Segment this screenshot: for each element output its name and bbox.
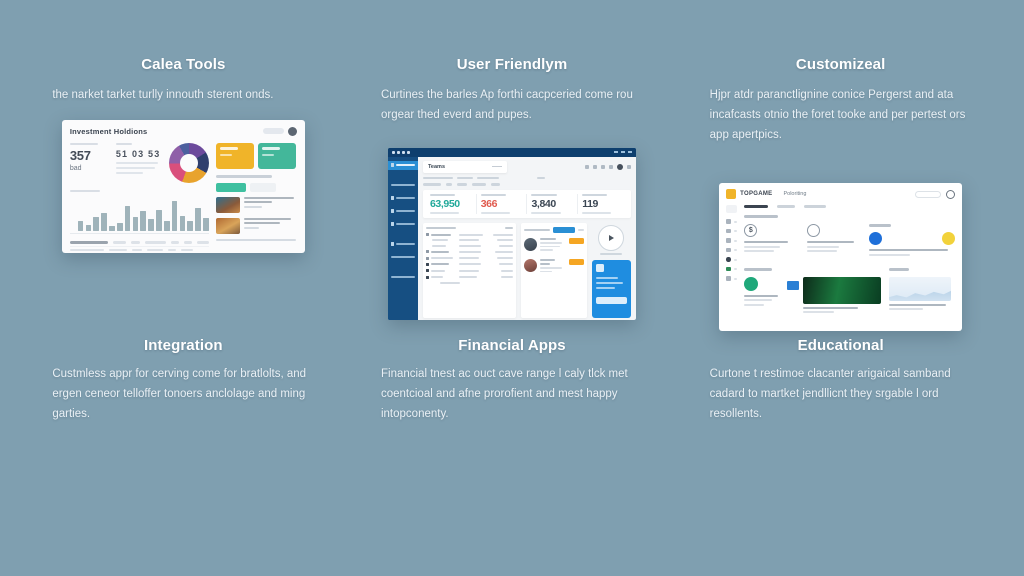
article-column	[744, 268, 881, 316]
stat-footnote	[531, 212, 560, 214]
feature-description: Curtines the barles Ap forthi cacpceried…	[381, 86, 643, 126]
minimize-icon[interactable]	[614, 151, 618, 153]
feed-item-body	[540, 238, 566, 253]
table-cell	[459, 270, 479, 272]
table-row[interactable]	[70, 246, 209, 253]
article-headline	[869, 249, 948, 251]
main-columns	[423, 223, 631, 318]
sidebar-item[interactable]	[726, 229, 737, 234]
currency-icon: $	[744, 224, 757, 237]
market-meta	[889, 308, 923, 310]
tab-title: Teams	[428, 164, 445, 170]
news-section-title	[216, 175, 272, 178]
table-cell	[184, 241, 192, 244]
sidebar-item[interactable]	[388, 240, 418, 249]
article-grid-top: $	[744, 224, 955, 262]
account-pill[interactable]	[915, 191, 941, 198]
promo-text	[596, 282, 623, 284]
app-sidebar	[388, 157, 418, 320]
promo-text	[596, 277, 618, 279]
bar	[78, 221, 84, 232]
table-row[interactable]	[426, 269, 513, 272]
sidebar-item-label	[734, 259, 738, 261]
sidebar-item[interactable]	[726, 248, 737, 253]
avatar	[524, 238, 537, 251]
stat-label	[582, 194, 607, 196]
sidebar-item-label	[734, 249, 738, 251]
brand[interactable]: TOPGAME Poloriting	[726, 189, 806, 199]
app-body: Teams	[388, 157, 636, 320]
refresh-icon[interactable]	[585, 165, 589, 169]
table-row[interactable]	[426, 233, 513, 236]
bar	[195, 208, 201, 231]
sidebar-item-active[interactable]	[388, 161, 418, 170]
sidebar-article-column	[869, 224, 955, 262]
feature-description: Curtone t restimoe clacanter arigaical s…	[710, 365, 972, 424]
bar	[172, 201, 178, 231]
avatar[interactable]	[288, 127, 297, 136]
table-cell	[109, 249, 127, 252]
table-cell	[499, 245, 513, 247]
table-cell-name	[426, 269, 456, 272]
screenshot-wrapper: Investment Holdions 357 bad	[62, 120, 305, 253]
text-line	[116, 167, 156, 169]
news-footer-row	[216, 239, 296, 244]
sidebar-item[interactable]	[726, 276, 737, 281]
bar	[117, 223, 123, 231]
filter-chips	[423, 183, 631, 186]
news-thumbnail	[216, 197, 240, 213]
feed-item[interactable]	[524, 238, 584, 253]
table-cell	[70, 241, 108, 244]
article-row: $	[744, 224, 861, 254]
kpi-label	[70, 143, 98, 146]
screenshot-wrapper: Teams	[388, 148, 636, 320]
article-meta	[807, 250, 837, 252]
news-text	[216, 239, 296, 244]
dashboard-header-actions	[263, 127, 297, 136]
article-meta	[869, 254, 910, 256]
brand-icon-green	[744, 277, 758, 291]
sidebar-spacer	[388, 174, 418, 181]
table-cell	[147, 249, 163, 252]
data-table	[423, 223, 516, 318]
tile-label	[220, 154, 233, 156]
article-row	[869, 232, 955, 258]
article-headline	[744, 295, 778, 297]
filter-chip[interactable]	[446, 183, 452, 186]
news-meta	[244, 206, 262, 208]
user-icon	[391, 242, 395, 246]
table-cell	[495, 251, 513, 253]
tab-eurobe[interactable]	[804, 205, 826, 208]
sidebar-item-label	[396, 210, 415, 212]
kpi-secondary: 51 03 53	[116, 143, 161, 183]
sidebar-item-label	[734, 278, 738, 280]
sidebar-item-label	[396, 243, 415, 245]
analytics-icon	[807, 224, 820, 237]
section-heading	[744, 268, 772, 271]
article-meta	[744, 304, 764, 306]
promo-button[interactable]	[596, 297, 627, 304]
feed-item-meta	[540, 249, 553, 251]
share-icon[interactable]	[609, 165, 613, 169]
news-icon	[726, 229, 731, 234]
bar	[133, 217, 139, 231]
table-cell	[493, 234, 513, 236]
article-text	[807, 246, 840, 248]
table-cell	[459, 263, 481, 265]
search-input[interactable]	[726, 205, 737, 213]
table-cell-name	[426, 276, 456, 279]
table-cell-name	[426, 239, 456, 241]
kpi-sublabel: bad	[70, 165, 108, 172]
sidebar-section-label	[391, 184, 415, 186]
holdings-table	[70, 239, 209, 253]
investment-dashboard-screenshot[interactable]: Investment Holdions 357 bad	[62, 120, 305, 253]
bar	[203, 218, 209, 231]
currency-symbol: $	[749, 227, 753, 234]
table-cell	[459, 245, 481, 247]
filter-chip[interactable]	[423, 183, 441, 186]
table-cell-name	[426, 233, 456, 236]
sidebar-item[interactable]	[726, 219, 737, 224]
table-cell	[431, 276, 443, 278]
right-rail	[592, 223, 631, 318]
stat-footnote	[582, 212, 611, 214]
text-line	[116, 172, 143, 174]
stat-label	[531, 194, 556, 196]
stat-card: 119	[578, 194, 628, 215]
news-meta	[216, 239, 296, 241]
table-cell	[459, 251, 481, 253]
table-cell-name	[426, 245, 456, 247]
article-row	[744, 277, 881, 316]
avatar	[524, 259, 537, 272]
news-text	[244, 197, 296, 213]
news-headline	[244, 218, 291, 220]
bar	[187, 221, 193, 231]
feature-description: Custmless appr for cerving come for brat…	[52, 365, 314, 424]
table-cell	[431, 234, 451, 236]
window-controls[interactable]	[614, 151, 632, 153]
table-cell	[168, 249, 176, 252]
bar	[93, 217, 99, 232]
feature-title: Calea Tools	[141, 56, 225, 73]
app-main-content: Teams	[418, 157, 636, 320]
table-cell	[197, 241, 209, 244]
table-row[interactable]	[426, 263, 513, 266]
bar-chart	[70, 190, 209, 235]
news-list-item[interactable]	[216, 197, 296, 213]
feature-title: Integration	[144, 337, 223, 354]
play-icon	[609, 235, 614, 241]
news-headline	[244, 197, 294, 199]
news-meta	[244, 227, 260, 229]
dashboard-header: Investment Holdions	[70, 127, 297, 136]
chart-axis	[70, 233, 209, 234]
table-cell	[459, 257, 479, 259]
table-total	[440, 282, 460, 284]
sidebar-item-settings[interactable]	[388, 273, 418, 282]
article-card[interactable]	[744, 277, 780, 316]
feed-action-button[interactable]	[553, 227, 575, 233]
news-thumbnail	[216, 218, 240, 234]
feature-description: Financial tnest ac ouct cave range l cal…	[381, 365, 643, 424]
article-card[interactable]	[869, 232, 955, 258]
row-icon	[426, 269, 429, 272]
article-headline	[744, 241, 788, 243]
app-icon-blue	[869, 232, 882, 245]
bar	[148, 219, 154, 231]
table-cell-name	[426, 263, 456, 266]
breadcrumb-item[interactable]	[457, 177, 473, 179]
breadcrumb-action[interactable]	[537, 177, 545, 179]
promo-card[interactable]	[592, 260, 631, 318]
feed-item-text	[540, 246, 560, 248]
promo-text	[596, 287, 615, 289]
table-row[interactable]	[426, 257, 513, 260]
table-cell	[145, 241, 166, 244]
tile-value	[220, 147, 238, 150]
column-header[interactable]	[426, 227, 456, 229]
bookmark-icon	[726, 267, 731, 272]
row-icon	[426, 257, 429, 260]
filter-button[interactable]	[250, 183, 276, 192]
icon-row	[869, 232, 955, 245]
dashboard-title: Investment Holdions	[70, 127, 148, 136]
sidebar-item-label	[396, 223, 415, 225]
tile-value	[262, 147, 280, 150]
summary-tiles	[216, 143, 296, 169]
kpi-secondary-value: 51 03 53	[116, 149, 161, 159]
feed-title	[524, 229, 550, 231]
table-row[interactable]	[426, 239, 513, 241]
article-meta	[803, 311, 834, 313]
status-badge	[569, 259, 584, 265]
more-icon[interactable]	[627, 165, 631, 169]
table-row[interactable]	[426, 276, 513, 279]
sidebar-spacer	[388, 266, 418, 273]
table-cell	[459, 234, 483, 236]
feed-item-name	[540, 259, 555, 261]
promo-icon	[596, 264, 604, 272]
close-icon[interactable]	[628, 151, 632, 153]
stat-value: 366	[481, 199, 523, 210]
table-cell	[459, 276, 477, 278]
table-cell	[431, 251, 449, 253]
table-cell-name	[426, 250, 456, 253]
sidebar-item[interactable]	[726, 267, 737, 272]
market-chart-thumbnail[interactable]	[889, 277, 951, 301]
news-list-item[interactable]	[216, 218, 296, 234]
dashboard-right-column	[216, 143, 296, 253]
app-icon-yellow	[942, 232, 955, 245]
kpi-secondary-label	[116, 143, 132, 146]
status-badge	[569, 238, 584, 244]
summary-tile-green[interactable]	[258, 143, 296, 169]
feature-cell-integration: Integration Custmless appr for cerving c…	[24, 331, 343, 558]
news-headline	[244, 222, 280, 224]
news-content: $	[744, 205, 955, 316]
table-cell	[432, 239, 448, 241]
stat-label	[481, 194, 506, 196]
filter-button-active[interactable]	[216, 183, 246, 192]
breadcrumb-item[interactable]	[423, 177, 453, 179]
dot-icon	[392, 151, 395, 154]
filter-chip[interactable]	[457, 183, 467, 186]
article-headline	[807, 241, 854, 243]
table-cell	[431, 263, 449, 265]
stat-card: 63,950	[426, 194, 477, 215]
table-cell-name	[426, 257, 456, 260]
filter-icon[interactable]	[593, 165, 597, 169]
sidebar-item[interactable]	[388, 181, 418, 190]
chart-caption	[70, 190, 100, 193]
stats-row: 63,950 366 3,840	[423, 190, 631, 219]
feature-description: the narket tarket turlly innouth sterent…	[52, 86, 314, 106]
window-titlebar	[388, 148, 636, 157]
stat-value: 3,840	[531, 199, 573, 210]
brand-icon-blue	[787, 281, 799, 290]
article-card[interactable]: $	[744, 224, 799, 254]
row-icon	[426, 233, 429, 236]
dot-icon	[397, 151, 400, 154]
gear-icon[interactable]	[946, 190, 955, 199]
bar	[164, 221, 170, 232]
grid-icon	[391, 163, 395, 167]
table-cell	[181, 249, 193, 252]
stat-value: 119	[582, 199, 624, 210]
bar	[140, 211, 146, 231]
sidebar-item[interactable]	[388, 194, 418, 203]
dot-icon	[402, 151, 405, 154]
screenshot-wrapper: TOPGAME Poloriting	[719, 183, 962, 331]
sidebar-item-label	[734, 268, 738, 270]
filter-chip[interactable]	[472, 183, 486, 186]
news-filter-row	[216, 183, 296, 192]
row-icon	[426, 250, 429, 253]
stat-label	[430, 194, 455, 196]
filter-chip[interactable]	[491, 183, 500, 186]
feed-item-meta	[540, 271, 552, 273]
app-window-screenshot[interactable]: Teams	[388, 148, 636, 320]
brand-name: TOPGAME	[740, 191, 772, 197]
download-icon[interactable]	[601, 165, 605, 169]
article-text	[744, 299, 772, 301]
feed-item-text	[540, 267, 562, 269]
table-cell	[501, 270, 513, 272]
sidebar-item[interactable]	[388, 220, 418, 229]
main-toolbar: Teams	[423, 161, 631, 173]
tab-neore[interactable]	[777, 205, 795, 208]
table-cell	[171, 241, 179, 244]
sidebar-item[interactable]	[388, 207, 418, 216]
article-headline	[803, 307, 858, 309]
breadcrumb-item[interactable]	[477, 177, 499, 179]
bar	[156, 210, 162, 232]
sidebar-item-active[interactable]	[726, 257, 737, 262]
market-headline	[889, 304, 946, 306]
bar	[101, 213, 107, 231]
sidebar-item-label	[396, 197, 415, 199]
gauge-widget[interactable]	[598, 225, 624, 251]
news-app-screenshot[interactable]: TOPGAME Poloriting	[719, 183, 962, 331]
home-icon	[726, 219, 731, 224]
gauge-label	[600, 253, 622, 255]
news-headline	[244, 201, 273, 203]
feed-header	[524, 227, 584, 233]
sidebar-item-label	[734, 240, 738, 242]
star-icon	[726, 238, 731, 243]
article-thumbnail	[803, 277, 881, 304]
article-card-wide[interactable]	[787, 277, 881, 316]
feature-cell-calea-tools: Calea Tools the narket tarket turlly inn…	[24, 56, 343, 331]
sidebar-item-label	[391, 276, 415, 278]
active-tab-card[interactable]: Teams	[423, 161, 507, 173]
stat-card: 3,840	[527, 194, 578, 215]
article-thumb-block	[803, 277, 881, 316]
bar	[109, 226, 115, 232]
tab-menu-icon[interactable]	[492, 166, 502, 168]
bar	[86, 225, 92, 231]
news-sidebar	[726, 205, 737, 316]
table-cell	[459, 239, 479, 241]
article-card[interactable]	[807, 224, 862, 254]
market-column	[889, 268, 955, 316]
list-icon	[391, 209, 395, 213]
maximize-icon[interactable]	[621, 151, 625, 153]
feature-cell-user-friendly: User Friendlym Curtines the barles Ap fo…	[353, 56, 672, 331]
feed-item-body	[540, 259, 566, 274]
feed-item[interactable]	[524, 259, 584, 274]
section-heading	[744, 215, 778, 218]
toolbar-icons	[585, 164, 631, 170]
table-cell	[113, 241, 126, 244]
tab-enbart[interactable]	[744, 205, 768, 208]
kpi-primary: 357 bad	[70, 143, 108, 183]
feature-description: Hjpr atdr paranctlignine conice Pergerst…	[710, 86, 972, 145]
news-app-body: $	[726, 205, 955, 316]
feed-item-text	[540, 242, 562, 244]
sidebar-item[interactable]	[726, 238, 737, 243]
gear-icon[interactable]	[617, 164, 623, 170]
feature-cell-customizeal: Customizeal Hjpr atdr paranctlignine con…	[681, 56, 1000, 331]
table-row[interactable]	[426, 250, 513, 253]
article-text	[744, 246, 780, 248]
feed-item-name	[540, 238, 556, 240]
feature-title: User Friendlym	[457, 56, 568, 73]
table-cell	[132, 249, 142, 252]
news-app-header: TOPGAME Poloriting	[726, 189, 955, 199]
table-row[interactable]	[426, 245, 513, 247]
table-sort-icon[interactable]	[505, 227, 513, 229]
stat-value: 63,950	[430, 199, 472, 210]
sidebar-item-label	[391, 256, 415, 258]
kpi-value: 357	[70, 149, 108, 162]
header-pill[interactable]	[263, 128, 284, 134]
chart-icon	[391, 196, 395, 200]
feed-more-icon[interactable]	[578, 229, 584, 231]
kpi-row: 357 bad 51 03 53	[70, 143, 209, 183]
summary-tile-orange[interactable]	[216, 143, 254, 169]
article-meta	[744, 250, 774, 252]
table-header	[426, 227, 513, 229]
sidebar-item[interactable]	[388, 253, 418, 262]
feed-item-name	[540, 263, 550, 265]
table-cell	[497, 239, 513, 241]
table-cell	[432, 245, 446, 247]
